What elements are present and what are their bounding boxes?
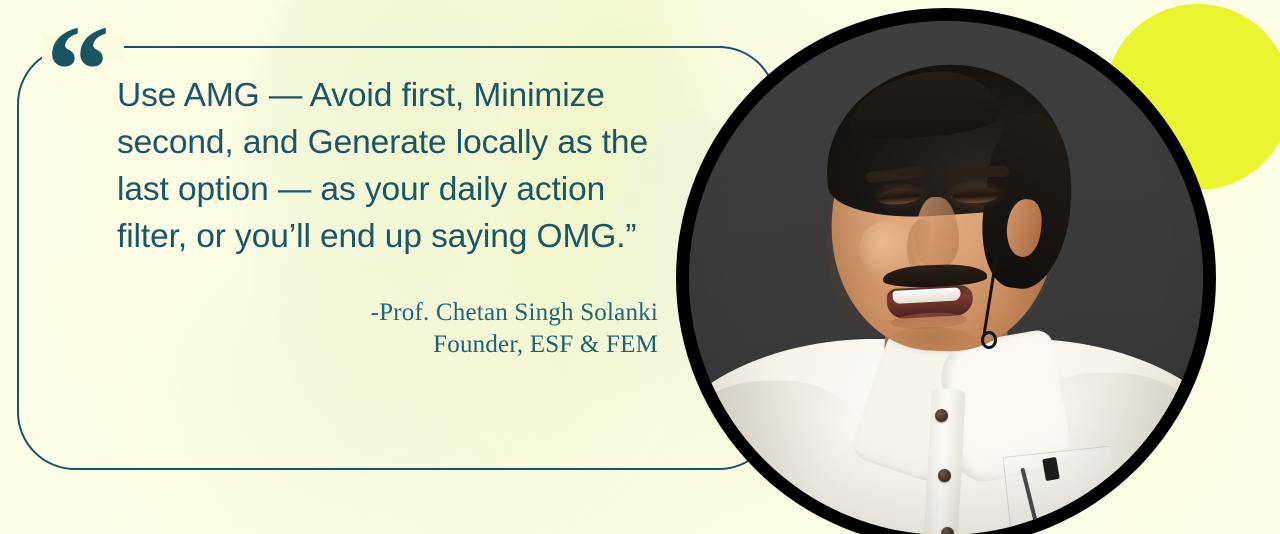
attribution: -Prof. Chetan Singh Solanki Founder, ESF…: [258, 297, 658, 361]
shirt-pocket: [1003, 446, 1121, 534]
shirt-button-1: [935, 409, 948, 422]
microphone-bud-icon: [981, 331, 997, 349]
shirt-button-3: [941, 527, 954, 534]
portrait: [676, 8, 1216, 534]
attribution-role: Founder, ESF & FEM: [258, 328, 658, 361]
chin-shadow: [885, 327, 977, 355]
quote-text: Use AMG — Avoid first, Minimize second, …: [117, 72, 677, 260]
quote-line-1: Use AMG — Avoid first, Minimize: [117, 72, 677, 119]
portrait-photo: [689, 21, 1203, 534]
quote-line-3: last option — as your daily action: [117, 166, 677, 213]
attribution-name: -Prof. Chetan Singh Solanki: [258, 297, 658, 328]
open-quote-icon: “: [46, 6, 108, 134]
shirt-button-2: [938, 469, 951, 482]
quote-line-2: second, and Generate locally as the: [117, 119, 677, 166]
teeth: [892, 287, 961, 304]
quote-card: “ Use AMG — Avoid first, Minimize second…: [0, 0, 1280, 534]
quote-line-4: filter, or you’ll end up saying OMG.”: [117, 213, 677, 260]
